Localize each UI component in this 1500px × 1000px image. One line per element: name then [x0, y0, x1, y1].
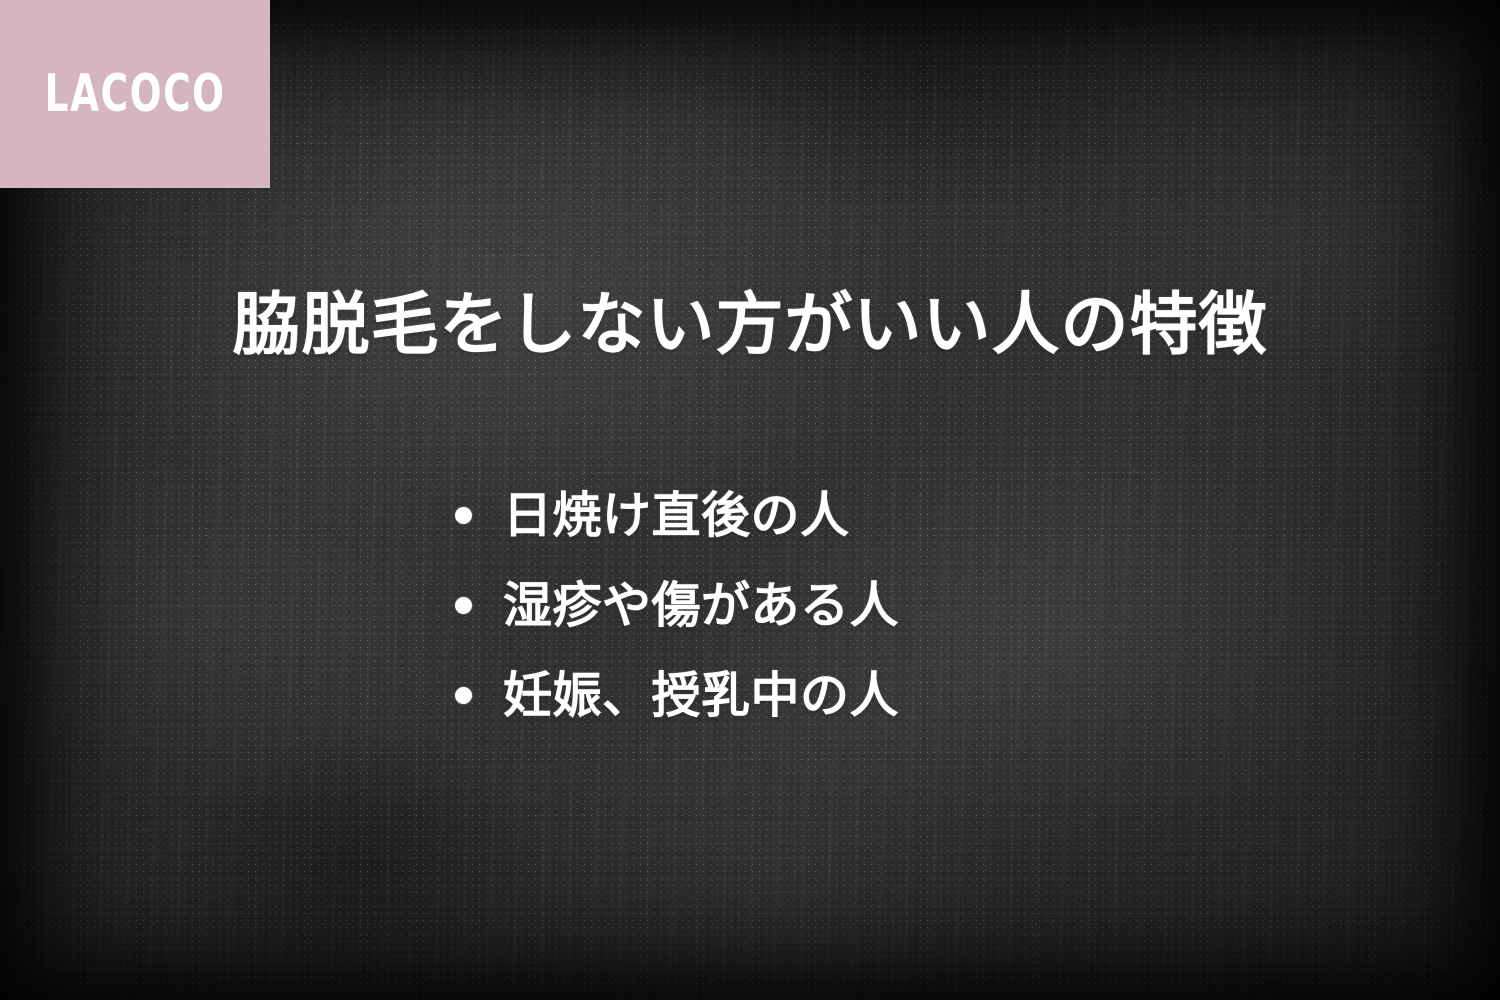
lacoco-wordmark: LACOCO — [45, 68, 226, 120]
list-item: 妊娠、授乳中の人 — [455, 650, 899, 740]
bullet-dot-icon — [455, 597, 472, 614]
bullet-dot-icon — [455, 687, 472, 704]
page-title: 脇脱毛をしない方がいい人の特徴 — [0, 292, 1500, 360]
list-item-label: 日焼け直後の人 — [503, 491, 850, 540]
list-item: 日焼け直後の人 — [455, 470, 899, 560]
logo-badge[interactable]: LACOCO — [0, 0, 270, 188]
list-item-label: 湿疹や傷がある人 — [503, 581, 899, 630]
list-item: 湿疹や傷がある人 — [455, 560, 899, 650]
list-item-label: 妊娠、授乳中の人 — [503, 671, 899, 720]
bullet-dot-icon — [455, 507, 472, 524]
bullet-list: 日焼け直後の人 湿疹や傷がある人 妊娠、授乳中の人 — [455, 470, 899, 740]
chalkboard-slide: LACOCO 脇脱毛をしない方がいい人の特徴 日焼け直後の人 湿疹や傷がある人 … — [0, 0, 1500, 1000]
